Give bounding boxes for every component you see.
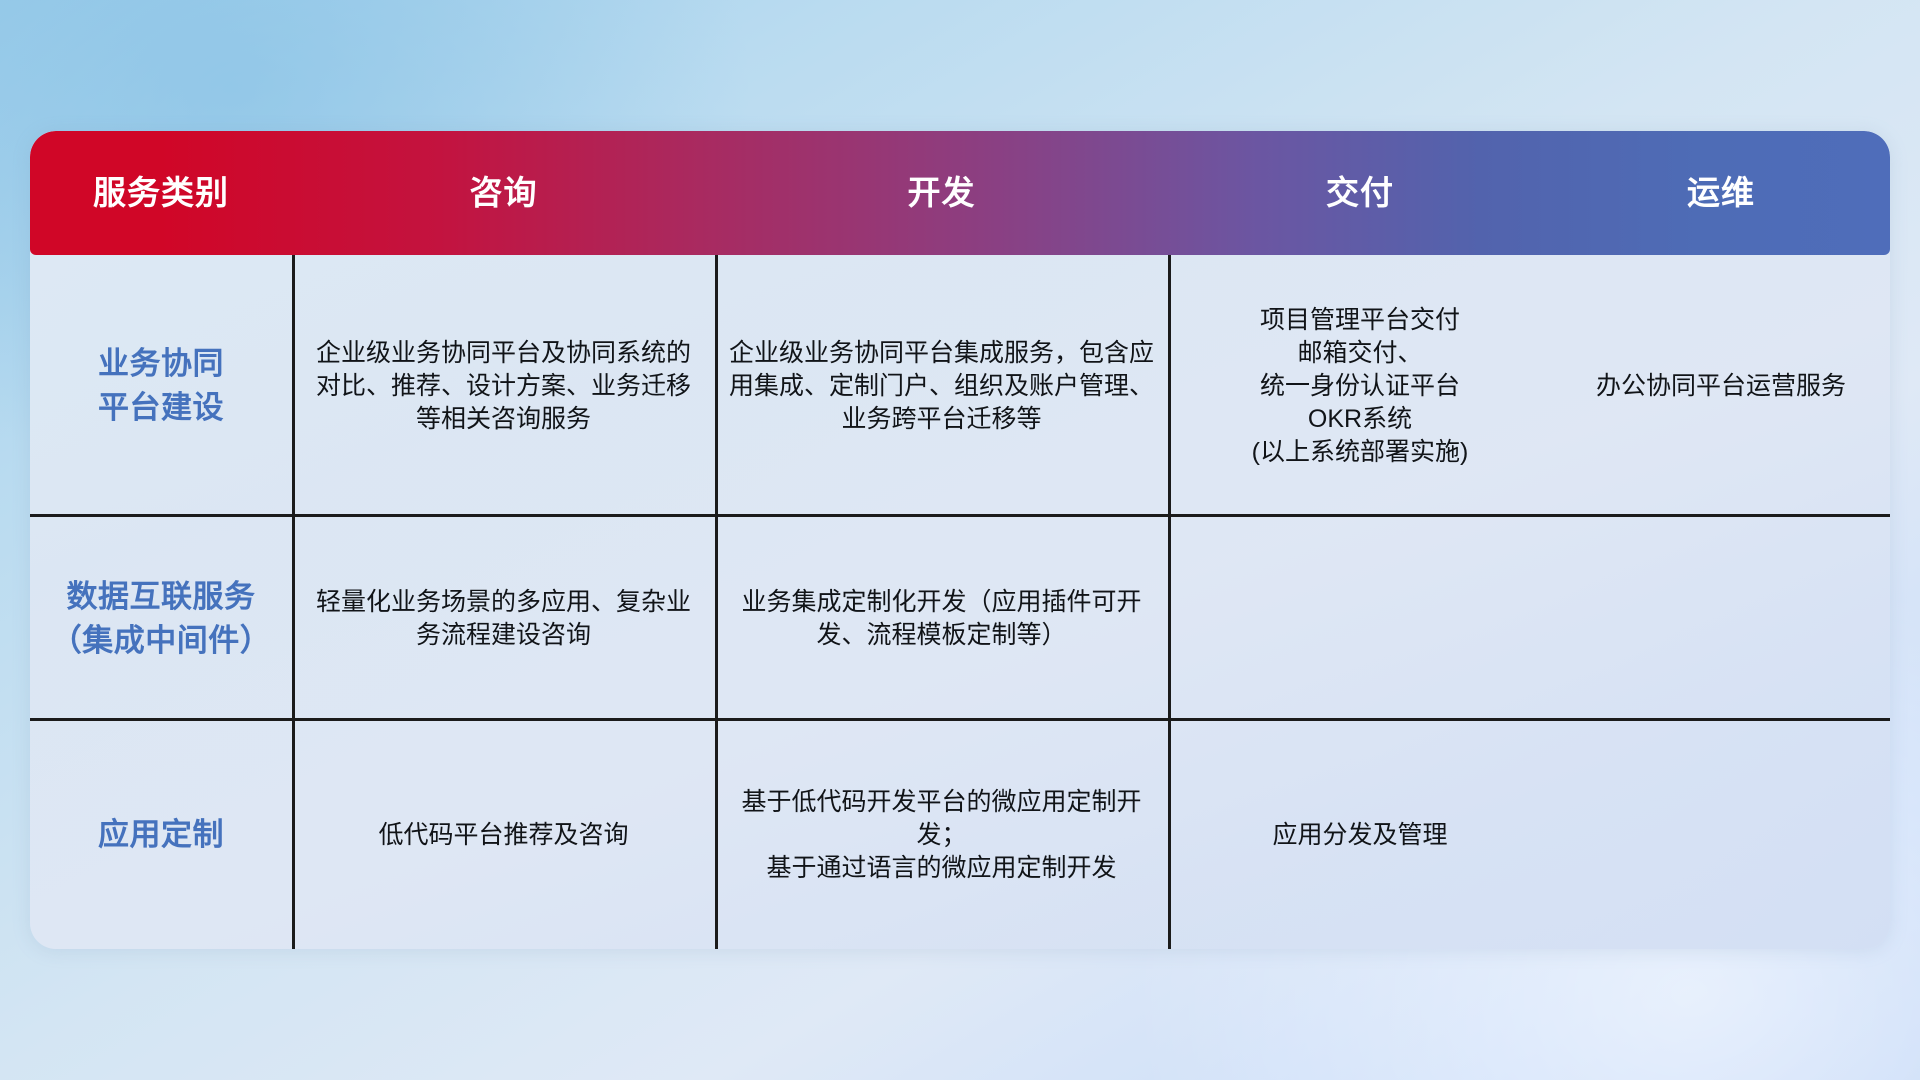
table-header-row: 服务类别 咨询 开发 交付 运维 <box>30 131 1890 255</box>
row-category-line-2: 平台建设 <box>98 386 224 430</box>
row-category-label: 数据互联服务 （集成中间件） <box>30 517 292 721</box>
cell-development: 业务集成定制化开发（应用插件可开发、流程模板定制等） <box>715 517 1168 721</box>
cell-delivery: 应用分发及管理 <box>1168 721 1552 949</box>
table-body: 业务协同 平台建设 企业级业务协同平台及协同系统的对比、推荐、设计方案、业务迁移… <box>30 255 1890 949</box>
column-header-consulting: 咨询 <box>292 175 715 211</box>
row-category-label: 业务协同 平台建设 <box>30 255 292 517</box>
cell-consulting: 低代码平台推荐及咨询 <box>292 721 715 949</box>
table-row: 数据互联服务 （集成中间件） 轻量化业务场景的多应用、复杂业务流程建设咨询 业务… <box>30 517 1890 721</box>
cell-operations <box>1552 721 1890 949</box>
table-row: 业务协同 平台建设 企业级业务协同平台及协同系统的对比、推荐、设计方案、业务迁移… <box>30 255 1890 517</box>
cell-development: 企业级业务协同平台集成服务，包含应用集成、定制门户、组织及账户管理、业务跨平台迁… <box>715 255 1168 517</box>
service-matrix-table: 服务类别 咨询 开发 交付 运维 业务协同 平台建设 企业级业务协同平台及协同系… <box>30 131 1890 949</box>
row-category-label: 应用定制 <box>30 721 292 949</box>
table-row: 应用定制 低代码平台推荐及咨询 基于低代码开发平台的微应用定制开发； 基于通过语… <box>30 721 1890 949</box>
column-header-operations: 运维 <box>1552 175 1890 211</box>
cell-operations <box>1552 517 1890 721</box>
cell-delivery <box>1168 517 1552 721</box>
cell-delivery: 项目管理平台交付 邮箱交付、 统一身份认证平台 OKR系统 (以上系统部署实施) <box>1168 255 1552 517</box>
row-category-line-1: 业务协同 <box>98 342 224 386</box>
cell-operations: 办公协同平台运营服务 <box>1552 255 1890 517</box>
row-category-line-2: （集成中间件） <box>51 619 272 663</box>
slide-canvas: 服务类别 咨询 开发 交付 运维 业务协同 平台建设 企业级业务协同平台及协同系… <box>0 0 1920 1080</box>
row-category-line-1: 应用定制 <box>98 813 224 857</box>
column-header-delivery: 交付 <box>1168 175 1552 211</box>
cell-consulting: 企业级业务协同平台及协同系统的对比、推荐、设计方案、业务迁移等相关咨询服务 <box>292 255 715 517</box>
column-header-development: 开发 <box>715 175 1168 211</box>
row-category-line-1: 数据互联服务 <box>51 575 272 619</box>
cell-consulting: 轻量化业务场景的多应用、复杂业务流程建设咨询 <box>292 517 715 721</box>
cell-development: 基于低代码开发平台的微应用定制开发； 基于通过语言的微应用定制开发 <box>715 721 1168 949</box>
column-header-category: 服务类别 <box>30 175 292 211</box>
